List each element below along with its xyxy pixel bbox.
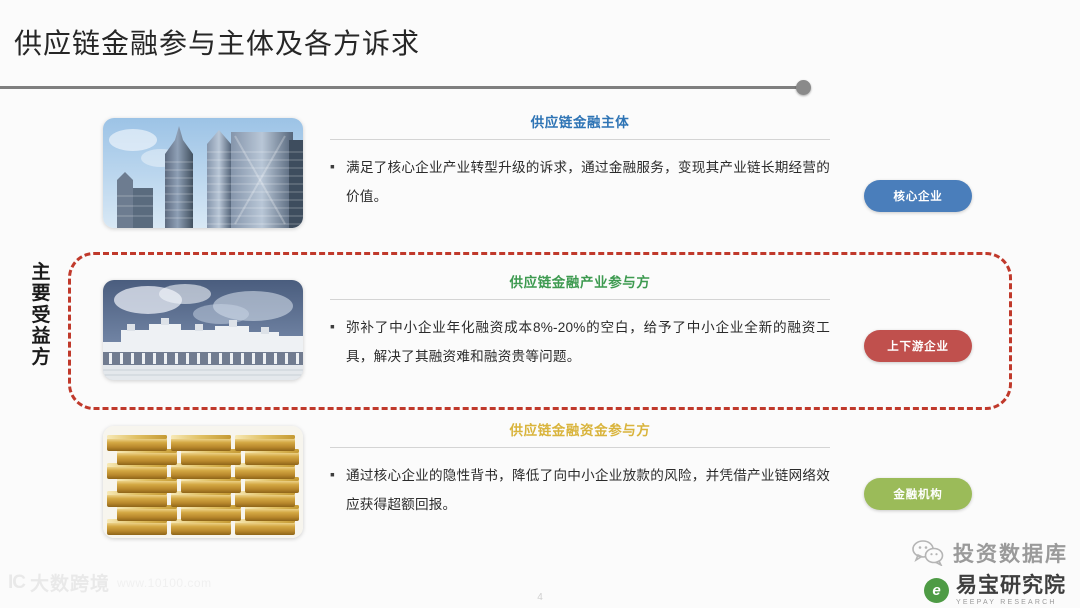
- section-divider: [330, 299, 830, 300]
- section-heading: 供应链金融资金参与方: [330, 420, 830, 442]
- section-divider: [330, 139, 830, 140]
- logo-text: 易宝研究院 YEEPAY RESEARCH: [956, 575, 1066, 606]
- bullet-item: ▪ 弥补了中小企业年化融资成本8%-20%的空白，给予了中小企业全新的融资工具，…: [330, 313, 830, 371]
- wechat-account-watermark: 投资数据库: [912, 538, 1068, 568]
- bullet-marker-icon: ▪: [330, 313, 346, 371]
- header-end-dot-icon: [796, 80, 811, 95]
- role-pill-core-enterprise[interactable]: 核心企业: [864, 180, 972, 212]
- logo-name-cn: 易宝研究院: [956, 575, 1066, 596]
- bullet-marker-icon: ▪: [330, 461, 346, 519]
- bullet-item: ▪ 通过核心企业的隐性背书，降低了向中小企业放款的风险，并凭借产业链网络效应获得…: [330, 461, 830, 519]
- section-heading: 供应链金融主体: [330, 112, 830, 134]
- section-heading: 供应链金融产业参与方: [330, 272, 830, 294]
- row-content: 供应链金融产业参与方 ▪ 弥补了中小企业年化融资成本8%-20%的空白，给予了中…: [330, 272, 830, 371]
- bullet-item: ▪ 满足了核心企业产业转型升级的诉求，通过金融服务，变现其产业链长期经营的价值。: [330, 153, 830, 211]
- bullet-text: 弥补了中小企业年化融资成本8%-20%的空白，给予了中小企业全新的融资工具，解决…: [346, 313, 830, 371]
- bullet-marker-icon: ▪: [330, 153, 346, 211]
- row-content: 供应链金融资金参与方 ▪ 通过核心企业的隐性背书，降低了向中小企业放款的风险，并…: [330, 420, 830, 519]
- bullet-text: 满足了核心企业产业转型升级的诉求，通过金融服务，变现其产业链长期经营的价值。: [346, 153, 830, 211]
- watermark-brand-name: 大数跨境: [30, 569, 110, 596]
- dashu-logo-icon: IC: [8, 572, 25, 594]
- content-row: 供应链金融资金参与方 ▪ 通过核心企业的隐性背书，降低了向中小企业放款的风险，并…: [0, 420, 1080, 548]
- wechat-account-name: 投资数据库: [953, 538, 1068, 568]
- row-content: 供应链金融主体 ▪ 满足了核心企业产业转型升级的诉求，通过金融服务，变现其产业链…: [330, 112, 830, 211]
- bullet-text: 通过核心企业的隐性背书，降低了向中小企业放款的风险，并凭借产业链网络效应获得超额…: [346, 461, 830, 519]
- content-row: 供应链金融主体 ▪ 满足了核心企业产业转型升级的诉求，通过金融服务，变现其产业链…: [0, 112, 1080, 238]
- page-title: 供应链金融参与主体及各方诉求: [14, 22, 420, 62]
- content-row: 供应链金融产业参与方 ▪ 弥补了中小企业年化融资成本8%-20%的空白，给予了中…: [0, 272, 1080, 394]
- gold-bars-photo: [103, 426, 303, 538]
- logo-name-en: YEEPAY RESEARCH: [956, 599, 1066, 606]
- section-divider: [330, 447, 830, 448]
- slide-canvas: 供应链金融参与主体及各方诉求 主要受益方: [0, 0, 1080, 608]
- watermark-url: www.10100.com: [117, 576, 212, 590]
- header-divider-line: [0, 86, 804, 89]
- warehouse-photo: [103, 280, 303, 380]
- yeepay-research-logo: e 易宝研究院 YEEPAY RESEARCH: [924, 575, 1066, 606]
- wechat-icon: [912, 540, 944, 566]
- watermark-dashuakuajing: IC 大数跨境 www.10100.com: [8, 569, 212, 596]
- yeepay-mark-icon: e: [924, 578, 949, 603]
- role-pill-upstream-downstream[interactable]: 上下游企业: [864, 330, 972, 362]
- skyscrapers-photo: [103, 118, 303, 228]
- role-pill-financial-institution[interactable]: 金融机构: [864, 478, 972, 510]
